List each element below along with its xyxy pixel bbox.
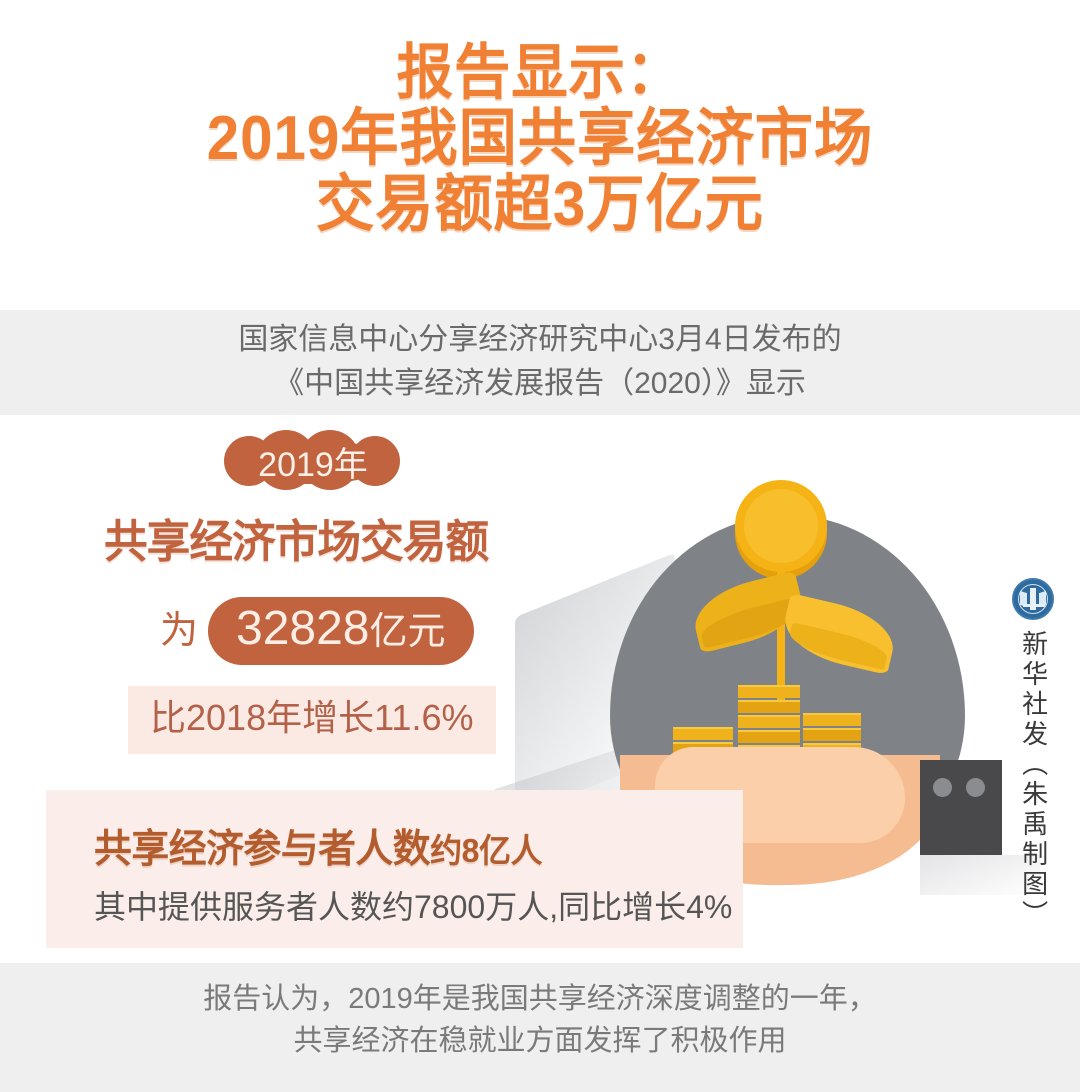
stat-headline: 共享经济市场交易额: [104, 505, 550, 570]
subtitle-line-2: 《中国共享经济发展报告（2020）》显示: [0, 362, 1080, 406]
footer-line-1: 报告认为，2019年是我国共享经济深度调整的一年，: [0, 978, 1080, 1020]
growth-badge: 比2018年增长11.6%: [128, 686, 496, 754]
participants-panel: 共享经济参与者人数约8亿人 其中提供服务者人数约7800万人,同比增长4%: [46, 790, 743, 948]
participants-heading-tail: 约8亿人: [430, 832, 542, 869]
amount-value: 32828: [236, 602, 369, 655]
participants-heading: 共享经济参与者人数约8亿人: [94, 818, 542, 874]
participants-heading-main: 共享经济参与者人数: [94, 828, 430, 871]
title-line-2: 2019年我国共享经济市场: [32, 106, 1047, 172]
sleeve-cuff: [920, 760, 1002, 855]
page-title: 报告显示： 2019年我国共享经济市场 交易额超3万亿元: [32, 40, 1047, 238]
infographic-canvas: 报告显示： 2019年我国共享经济市场 交易额超3万亿元 国家信息中心分享经济研…: [0, 0, 1080, 1092]
amount-prefix: 为: [160, 612, 198, 650]
year-badge: 2019年: [224, 430, 402, 492]
credit-text: 新华社发（朱禹制图）: [1019, 630, 1046, 930]
amount-pill: 32828亿元: [208, 597, 474, 665]
amount-unit: 亿元: [370, 611, 446, 653]
year-badge-label: 2019年: [258, 437, 368, 486]
footer-line-2: 共享经济在稳就业方面发挥了积极作用: [0, 1020, 1080, 1062]
participants-detail: 其中提供服务者人数约7800万人,同比增长4%: [94, 882, 732, 928]
cuff-button-2: [966, 778, 985, 797]
xinhua-logo-icon: [1012, 578, 1054, 620]
credit-block: 新华社发（朱禹制图）: [1004, 578, 1062, 930]
subtitle: 国家信息中心分享经济研究中心3月4日发布的 《中国共享经济发展报告（2020）》…: [0, 318, 1080, 406]
coin-icon: [735, 480, 827, 572]
footer-note: 报告认为，2019年是我国共享经济深度调整的一年， 共享经济在稳就业方面发挥了积…: [0, 978, 1080, 1062]
cuff-button-1: [933, 778, 952, 797]
title-line-3: 交易额超3万亿元: [32, 172, 1047, 238]
subtitle-line-1: 国家信息中心分享经济研究中心3月4日发布的: [0, 318, 1080, 362]
amount-row: 为 32828亿元: [160, 597, 474, 665]
title-line-1: 报告显示：: [32, 40, 1047, 106]
